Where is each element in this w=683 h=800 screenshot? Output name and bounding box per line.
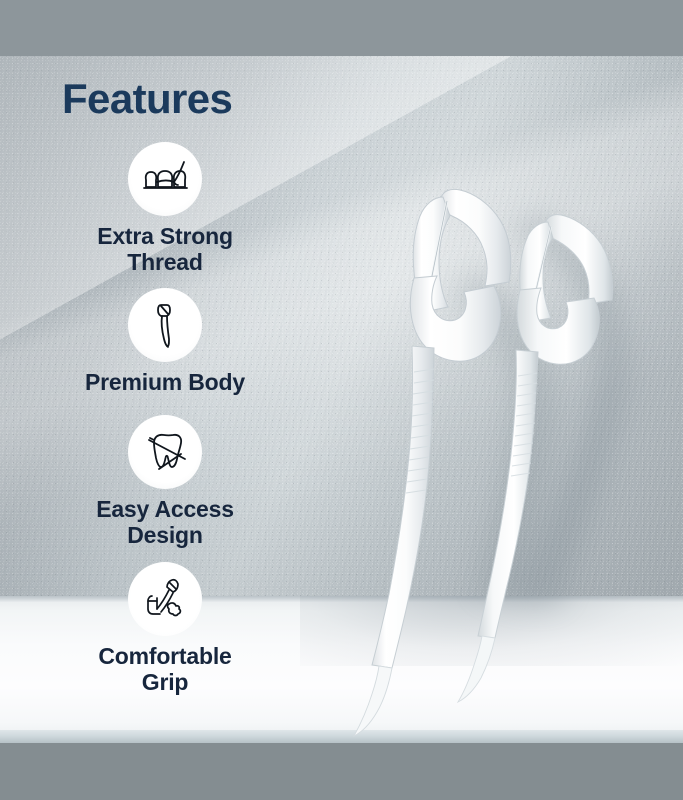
bottom-border-band [0, 743, 683, 800]
feature-item-extra-strong-thread[interactable]: Extra Strong Thread [0, 142, 330, 275]
tooth-with-pick-icon [128, 415, 202, 489]
feature-label-line2: Thread [127, 249, 202, 275]
hand-holding-pick-icon [128, 562, 202, 636]
feature-label-line1: Comfortable [98, 643, 231, 669]
floss-pick-body-icon [128, 288, 202, 362]
feature-label-line2: Design [127, 522, 202, 548]
feature-item-easy-access-design[interactable]: Easy Access Design [0, 415, 330, 548]
feature-label: Comfortable Grip [0, 643, 330, 695]
feature-label: Premium Body [0, 369, 330, 395]
feature-item-comfortable-grip[interactable]: Comfortable Grip [0, 562, 330, 695]
product-shelf-shadow [300, 596, 683, 666]
feature-label-line1: Extra Strong [97, 223, 233, 249]
top-border-band [0, 0, 683, 56]
page-title: Features [62, 78, 232, 120]
feature-item-premium-body[interactable]: Premium Body [0, 288, 330, 395]
feature-label: Extra Strong Thread [0, 223, 330, 275]
features-panel: Features Extra Strong [0, 0, 330, 800]
feature-label-line2: Grip [142, 669, 188, 695]
feature-label-line1: Premium Body [85, 369, 245, 395]
feature-label-line1: Easy Access [96, 496, 234, 522]
feature-label: Easy Access Design [0, 496, 330, 548]
product-feature-graphic: Features Extra Strong [0, 0, 683, 800]
teeth-with-floss-icon [128, 142, 202, 216]
